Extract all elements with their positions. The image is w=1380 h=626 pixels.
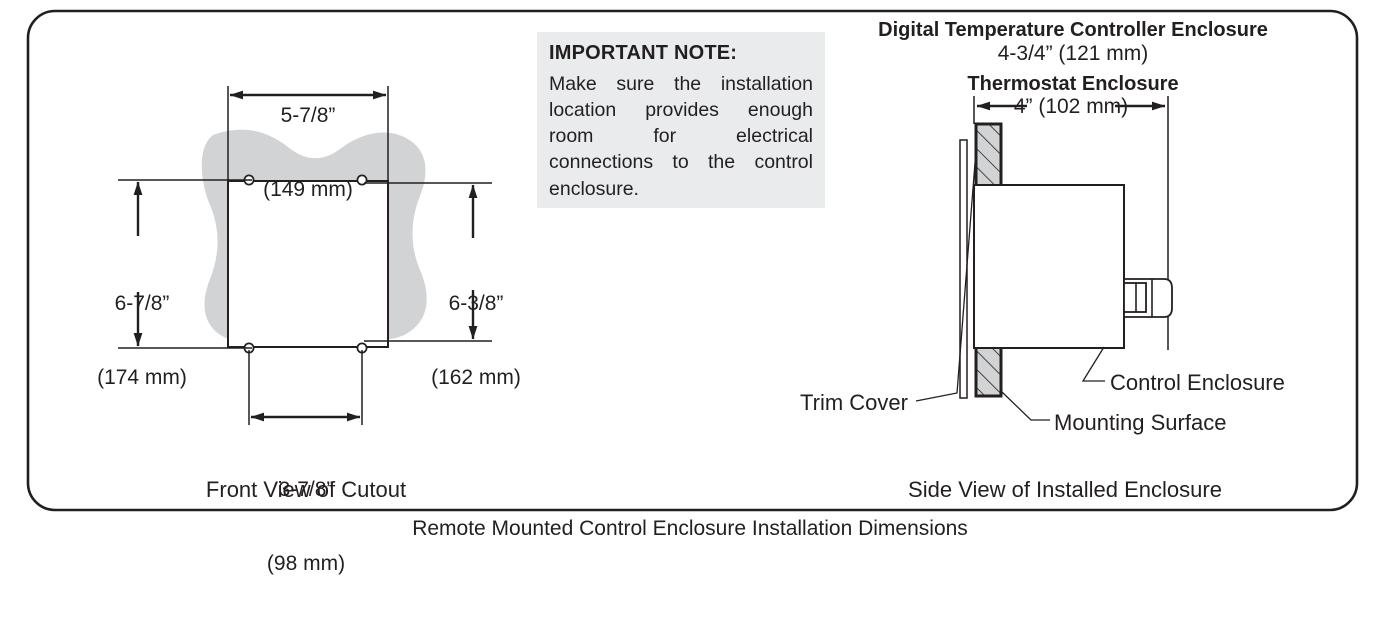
thermostat-enclosure-dimension: 4” (102 mm) — [1014, 95, 1128, 120]
important-note-title: IMPORTANT NOTE: — [549, 42, 813, 65]
leader-control-enclosure — [1083, 347, 1105, 381]
mounting-surface-label: Mounting Surface — [1054, 410, 1226, 436]
important-note-body: Make sure the installation location prov… — [549, 71, 813, 202]
cutout-left-height-label: 6-7/8” (174 mm) — [97, 242, 187, 440]
trim-cover-plate — [960, 140, 967, 398]
cutout-right-height-label: 6-3/8” (162 mm) — [431, 242, 521, 440]
trim-cover-label: Trim Cover — [800, 390, 908, 416]
controller-enclosure-title: Digital Temperature Controller Enclosure — [878, 19, 1268, 43]
conduit-fitting-collar — [1124, 283, 1146, 312]
important-note-box: IMPORTANT NOTE: Make sure the installati… — [537, 32, 825, 208]
figure-root: 5-7/8” (149 mm) 6-7/8” (174 mm) 6-3/8” (… — [0, 0, 1380, 557]
cutout-right-height-mm: (162 mm) — [431, 366, 521, 391]
figure-bottom-caption: Remote Mounted Control Enclosure Install… — [412, 517, 968, 541]
control-enclosure-body — [974, 185, 1124, 348]
cutout-top-width-label: 5-7/8” (149 mm) — [263, 54, 353, 252]
cutout-right-height-inches: 6-3/8” — [431, 292, 521, 317]
mounting-surface-lower — [976, 345, 1001, 396]
controller-enclosure-dimension: 4-3/4” (121 mm) — [998, 42, 1149, 67]
cutout-top-width-inches: 5-7/8” — [263, 104, 353, 129]
leader-mounting-surface — [1002, 392, 1050, 420]
cutout-left-height-mm: (174 mm) — [97, 366, 187, 391]
cutout-left-height-inches: 6-7/8” — [97, 292, 187, 317]
mounting-surface-upper — [976, 124, 1001, 187]
side-view-caption: Side View of Installed Enclosure — [908, 477, 1222, 503]
thermostat-enclosure-title: Thermostat Enclosure — [967, 73, 1178, 97]
cutout-bottom-width-mm: (98 mm) — [267, 552, 345, 577]
cutout-top-width-mm: (149 mm) — [263, 178, 353, 203]
front-view-caption: Front View of Cutout — [206, 477, 406, 503]
control-enclosure-label: Control Enclosure — [1110, 370, 1285, 396]
cutout-bottom-width-label: 3-7/8” (98 mm) — [267, 428, 345, 626]
